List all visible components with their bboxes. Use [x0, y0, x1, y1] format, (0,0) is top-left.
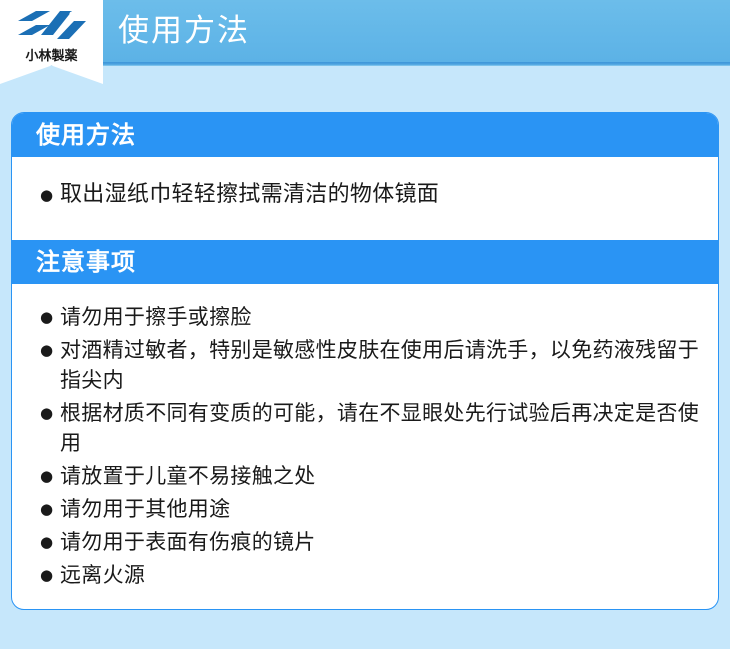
list-item: 远离火源 — [40, 560, 700, 590]
usage-list: 取出湿纸巾轻轻擦拭需清洁的物体镜面 — [40, 179, 700, 211]
banner-title: 使用方法 — [118, 9, 250, 53]
section-heading-usage: 使用方法 — [12, 113, 718, 157]
list-item: 取出湿纸巾轻轻擦拭需清洁的物体镜面 — [40, 179, 700, 211]
banner-underline — [0, 62, 730, 66]
brand-logo-ribbon: 小林製薬 — [0, 0, 103, 84]
brand-name: 小林製薬 — [0, 45, 103, 64]
section-body-caution: 请勿用于擦手或擦脸 对酒精过敏者，特别是敏感性皮肤在使用后请洗手，以免药液残留于… — [12, 284, 718, 610]
kobayashi-logo-mark-icon — [16, 5, 88, 45]
list-item: 请勿用于其他用途 — [40, 494, 700, 524]
page-banner: 使用方法 — [0, 0, 730, 62]
caution-list: 请勿用于擦手或擦脸 对酒精过敏者，特别是敏感性皮肤在使用后请洗手，以免药液残留于… — [40, 302, 700, 590]
list-item: 请勿用于擦手或擦脸 — [40, 302, 700, 332]
list-item: 根据材质不同有变质的可能，请在不显眼处先行试验后再决定是否使用 — [40, 398, 700, 458]
instruction-card: 使用方法 取出湿纸巾轻轻擦拭需清洁的物体镜面 注意事项 请勿用于擦手或擦脸 对酒… — [11, 112, 719, 610]
section-heading-caution: 注意事项 — [12, 240, 718, 284]
list-item: 对酒精过敏者，特别是敏感性皮肤在使用后请洗手，以免药液残留于指尖内 — [40, 335, 700, 395]
section-body-usage: 取出湿纸巾轻轻擦拭需清洁的物体镜面 — [12, 157, 718, 240]
list-item: 请放置于儿童不易接触之处 — [40, 461, 700, 491]
list-item: 请勿用于表面有伤痕的镜片 — [40, 527, 700, 557]
